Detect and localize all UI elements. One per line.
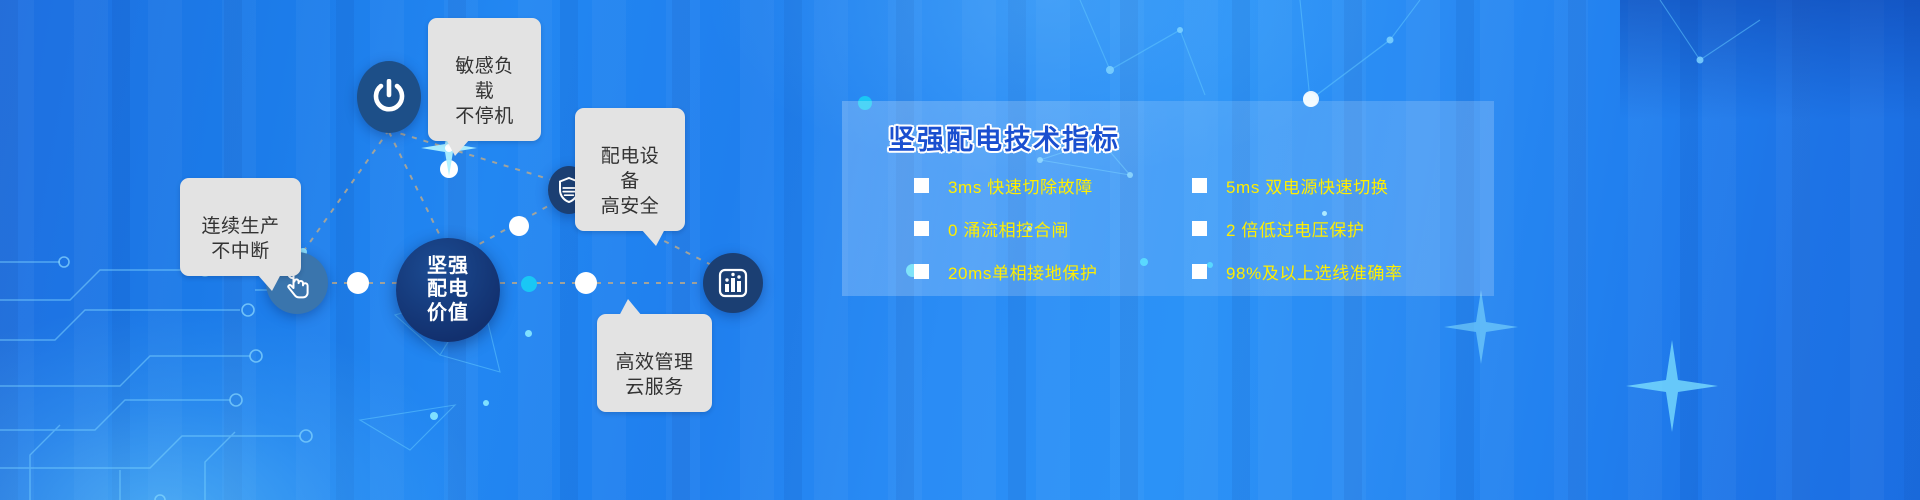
bullet-square-icon bbox=[914, 178, 929, 193]
bullet-square-icon bbox=[914, 221, 929, 236]
power-icon bbox=[372, 79, 406, 115]
metrics-grid: 3ms 快速切除故障 5ms 双电源快速切换 0 涌流相控合闸 2 倍低过电压保… bbox=[914, 173, 1494, 284]
metric-item: 20ms单相接地保护 bbox=[914, 259, 1192, 284]
metric-label: 2 倍低过电压保护 bbox=[1226, 216, 1365, 241]
node-chart[interactable] bbox=[703, 253, 763, 313]
metric-item: 0 涌流相控合闸 bbox=[914, 216, 1192, 241]
metric-item: 2 倍低过电压保护 bbox=[1192, 216, 1494, 241]
bubble-equipment-safety-label: 配电设备 高安全 bbox=[601, 146, 660, 217]
bullet-square-icon bbox=[914, 264, 929, 279]
center-node-label: 坚强 配电 价值 bbox=[427, 255, 469, 325]
bullet-square-icon bbox=[1192, 264, 1207, 279]
banner-stage: 坚强 配电 价值 敏感负载 不停机 配电设备 高安全 连续生产 不中断 高效管理… bbox=[0, 0, 1920, 500]
tech-spec-panel: 坚强配电技术指标 3ms 快速切除故障 5ms 双电源快速切换 0 涌流相控合闸… bbox=[842, 101, 1494, 296]
bubble-cloud-service[interactable]: 高效管理 云服务 bbox=[597, 314, 712, 412]
bubble-continuous-production[interactable]: 连续生产 不中断 bbox=[180, 178, 301, 276]
bubble-equipment-safety[interactable]: 配电设备 高安全 bbox=[575, 108, 685, 231]
sparkle-icon bbox=[1444, 290, 1518, 364]
bubble-sensitive-load[interactable]: 敏感负载 不停机 bbox=[428, 18, 541, 141]
metric-label: 98%及以上选线准确率 bbox=[1226, 259, 1403, 284]
metric-label: 0 涌流相控合闸 bbox=[948, 216, 1069, 241]
metric-item: 3ms 快速切除故障 bbox=[914, 173, 1192, 198]
bullet-square-icon bbox=[1192, 221, 1207, 236]
bar-chart-icon bbox=[718, 268, 748, 298]
metric-item: 98%及以上选线准确率 bbox=[1192, 259, 1494, 284]
metric-item: 5ms 双电源快速切换 bbox=[1192, 173, 1494, 198]
bubble-continuous-production-label: 连续生产 不中断 bbox=[201, 216, 279, 262]
node-power[interactable] bbox=[357, 61, 421, 133]
metric-label: 20ms单相接地保护 bbox=[948, 259, 1098, 284]
metric-label: 3ms 快速切除故障 bbox=[948, 173, 1093, 198]
center-node: 坚强 配电 价值 bbox=[396, 238, 500, 342]
panel-title: 坚强配电技术指标 bbox=[888, 118, 1120, 157]
bubble-sensitive-load-label: 敏感负载 不停机 bbox=[455, 56, 514, 127]
sparkle-icon bbox=[1626, 340, 1718, 432]
metric-label: 5ms 双电源快速切换 bbox=[1226, 173, 1388, 198]
bubble-cloud-service-label: 高效管理 云服务 bbox=[615, 352, 693, 398]
bullet-square-icon bbox=[1192, 178, 1207, 193]
